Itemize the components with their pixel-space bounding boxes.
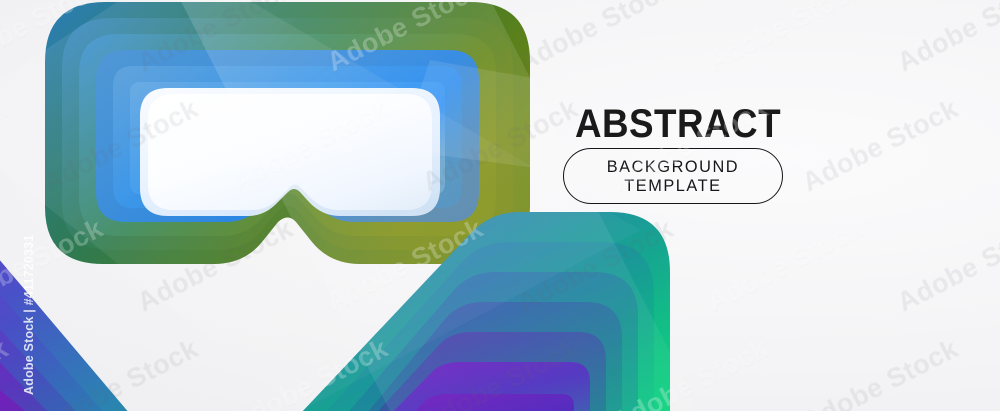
badge-line-1: BACKGROUND	[607, 157, 739, 176]
artwork-canvas: ABSTRACT BACKGROUND TEMPLATE Adobe Stock…	[0, 0, 1000, 411]
lower-chevron-stack	[0, 196, 730, 411]
badge-pill: BACKGROUND TEMPLATE	[563, 148, 783, 204]
badge-text: BACKGROUND TEMPLATE	[607, 157, 739, 195]
page-title: ABSTRACT	[572, 104, 784, 144]
badge-line-2: TEMPLATE	[607, 176, 739, 195]
headline-block: ABSTRACT BACKGROUND TEMPLATE	[563, 104, 793, 204]
lower-chevron-layers	[0, 196, 730, 411]
